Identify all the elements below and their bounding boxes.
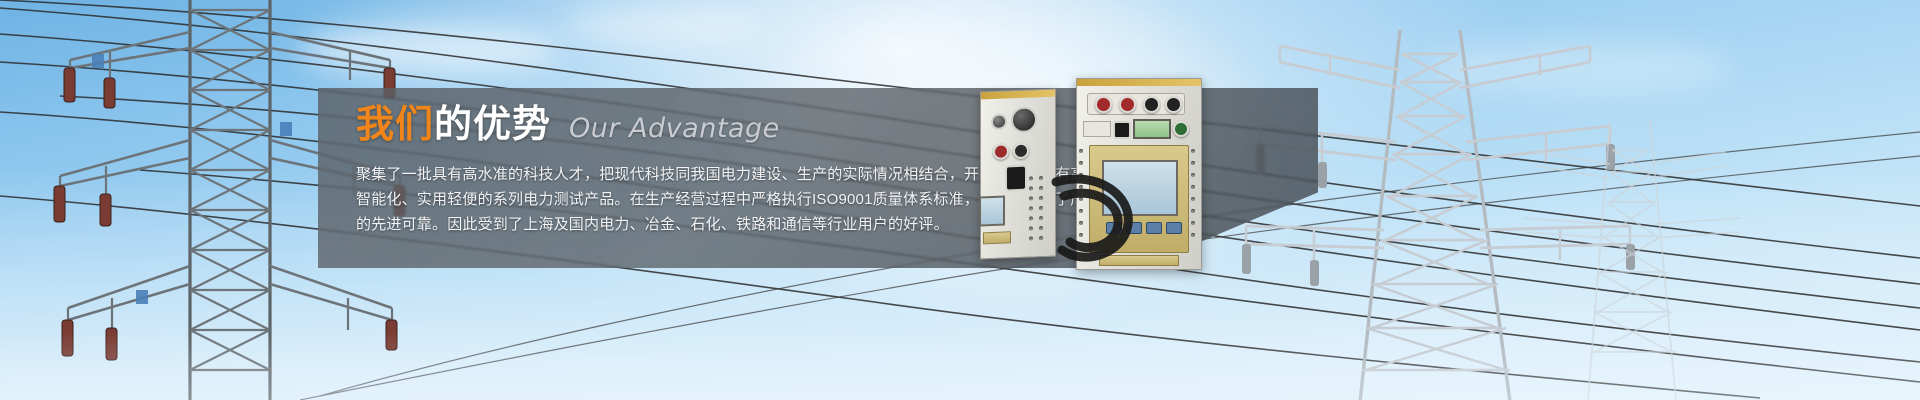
instrument-cable-coil [1036, 162, 1146, 272]
headline-english-subtitle: Our Advantage [569, 113, 780, 144]
instrument-terminal-red [993, 143, 1009, 160]
instrument-lcd-readout [1133, 119, 1171, 139]
terminal-red-2 [1119, 96, 1136, 113]
control-label-plate [1083, 121, 1111, 137]
instrument-top-trim [1077, 79, 1201, 86]
instrument-toggle [1113, 121, 1131, 139]
headline-chinese: 我们的优势 [356, 104, 551, 148]
foreground-haze [0, 330, 1920, 400]
advantage-banner: 我们的优势 Our Advantage 聚集了一批具有高水准的科技人才，把现代科… [0, 0, 1920, 400]
instrument-group [980, 78, 1220, 278]
instrument-display [979, 195, 1005, 226]
headline-accent-text: 我们 [356, 104, 434, 146]
instrument-knob [1011, 106, 1037, 133]
instrument-knob-small [991, 113, 1007, 130]
headline-plain-text: 的优势 [434, 104, 551, 146]
instrument-nameplate [983, 231, 1011, 244]
panel-button [1166, 222, 1182, 234]
panel-button [1146, 222, 1162, 234]
instrument-top-trim [981, 90, 1055, 100]
terminal-black-1 [1143, 96, 1160, 113]
indicator-led-green [1173, 121, 1189, 137]
instrument-terminal-black [1013, 143, 1029, 160]
instrument-power-switch [1005, 165, 1027, 192]
terminal-black-2 [1165, 96, 1182, 113]
terminal-red-1 [1095, 96, 1112, 113]
